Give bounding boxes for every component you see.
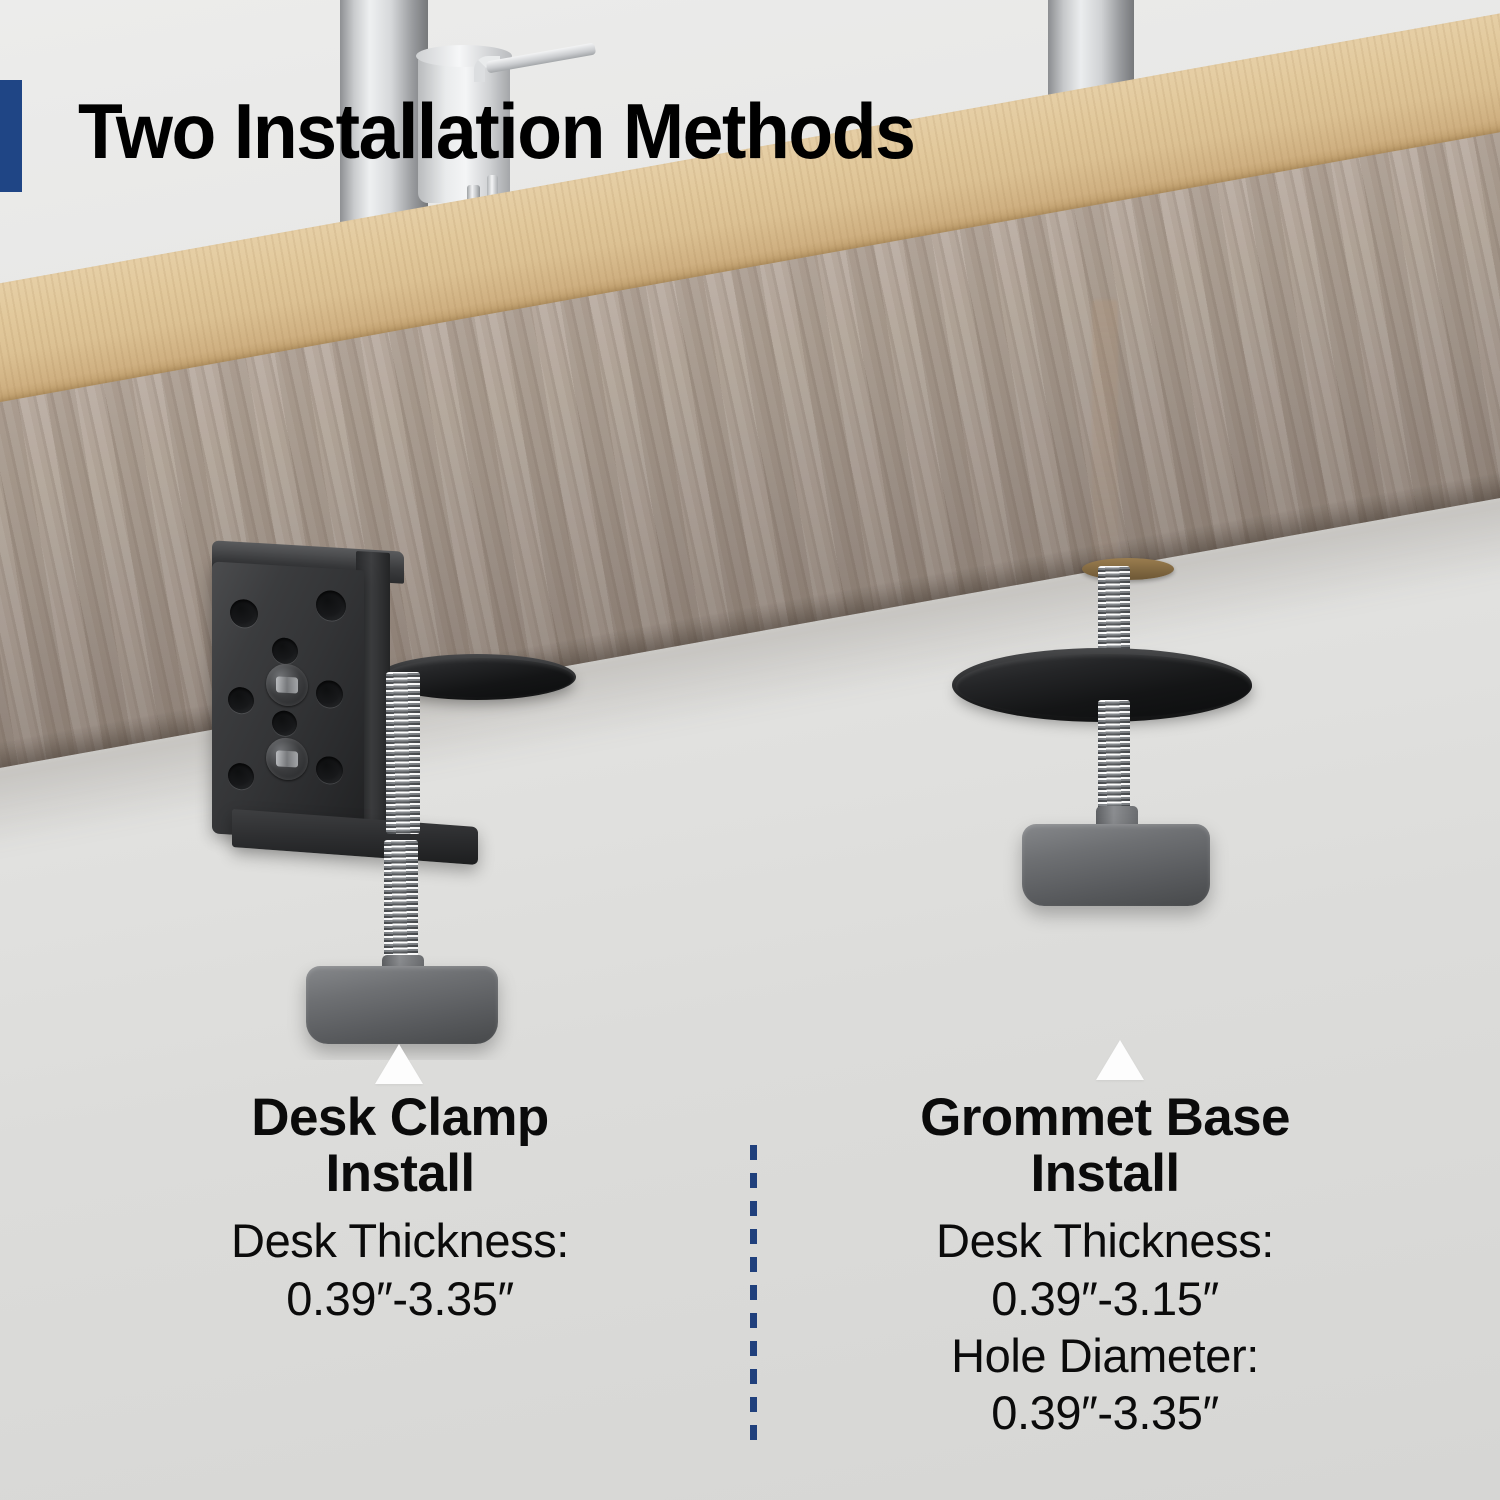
column-grommet-base: Grommet Base Install Desk Thickness: 0.3… xyxy=(795,1090,1415,1442)
pointer-triangle-left xyxy=(375,1044,423,1084)
clamp-tightening-knob[interactable] xyxy=(306,966,498,1044)
clamp-hole-5 xyxy=(316,680,343,709)
spec-value: 0.39″-3.35″ xyxy=(795,1384,1415,1441)
clamp-hole-6 xyxy=(272,710,297,736)
spec-desk-thickness: Desk Thickness: 0.39″-3.35″ xyxy=(90,1212,710,1327)
pointer-triangle-right xyxy=(1096,1040,1144,1080)
infographic-canvas: Two Installation Methods Desk Clamp Inst… xyxy=(0,0,1500,1500)
clamp-hole-2 xyxy=(316,590,346,622)
page-title: Two Installation Methods xyxy=(78,86,914,177)
grommet-threaded-rod-lower xyxy=(1098,700,1130,822)
clamp-hole-3 xyxy=(272,637,298,665)
clamp-bottom-arm xyxy=(232,809,478,865)
spec-value: 0.39″-3.35″ xyxy=(90,1270,710,1327)
spec-label: Hole Diameter: xyxy=(795,1327,1415,1384)
spec-hole-diameter: Hole Diameter: 0.39″-3.35″ xyxy=(795,1327,1415,1442)
spec-label: Desk Thickness: xyxy=(90,1212,710,1269)
spec-value: 0.39″-3.15″ xyxy=(795,1270,1415,1327)
clamp-threaded-rod-lower xyxy=(384,840,418,974)
clamp-face-plate xyxy=(212,561,364,842)
title-accent-bar xyxy=(0,80,22,192)
spec-desk-thickness: Desk Thickness: 0.39″-3.15″ xyxy=(795,1212,1415,1327)
clamp-hole-4 xyxy=(228,686,254,714)
column-title-grommet-base: Grommet Base Install xyxy=(795,1090,1415,1202)
clamp-threaded-rod-upper xyxy=(386,672,420,834)
clamp-screw-lower[interactable] xyxy=(266,737,308,781)
column-desk-clamp: Desk Clamp Install Desk Thickness: 0.39″… xyxy=(90,1090,710,1327)
title-line-1: Grommet Base xyxy=(920,1088,1290,1147)
column-title-desk-clamp: Desk Clamp Install xyxy=(90,1090,710,1202)
column-divider xyxy=(750,1145,757,1450)
hex-key-arm xyxy=(486,43,596,74)
clamp-hole-1 xyxy=(230,599,258,629)
spec-label: Desk Thickness: xyxy=(795,1212,1415,1269)
clamp-hole-8 xyxy=(316,756,343,785)
title-line-1: Desk Clamp xyxy=(251,1088,548,1147)
grommet-rod-above-desk xyxy=(1092,300,1118,562)
clamp-screw-upper[interactable] xyxy=(266,663,308,707)
title-line-2: Install xyxy=(326,1144,475,1203)
grommet-tightening-knob[interactable] xyxy=(1022,824,1210,906)
title-line-2: Install xyxy=(1031,1144,1180,1203)
clamp-hole-7 xyxy=(228,762,254,790)
